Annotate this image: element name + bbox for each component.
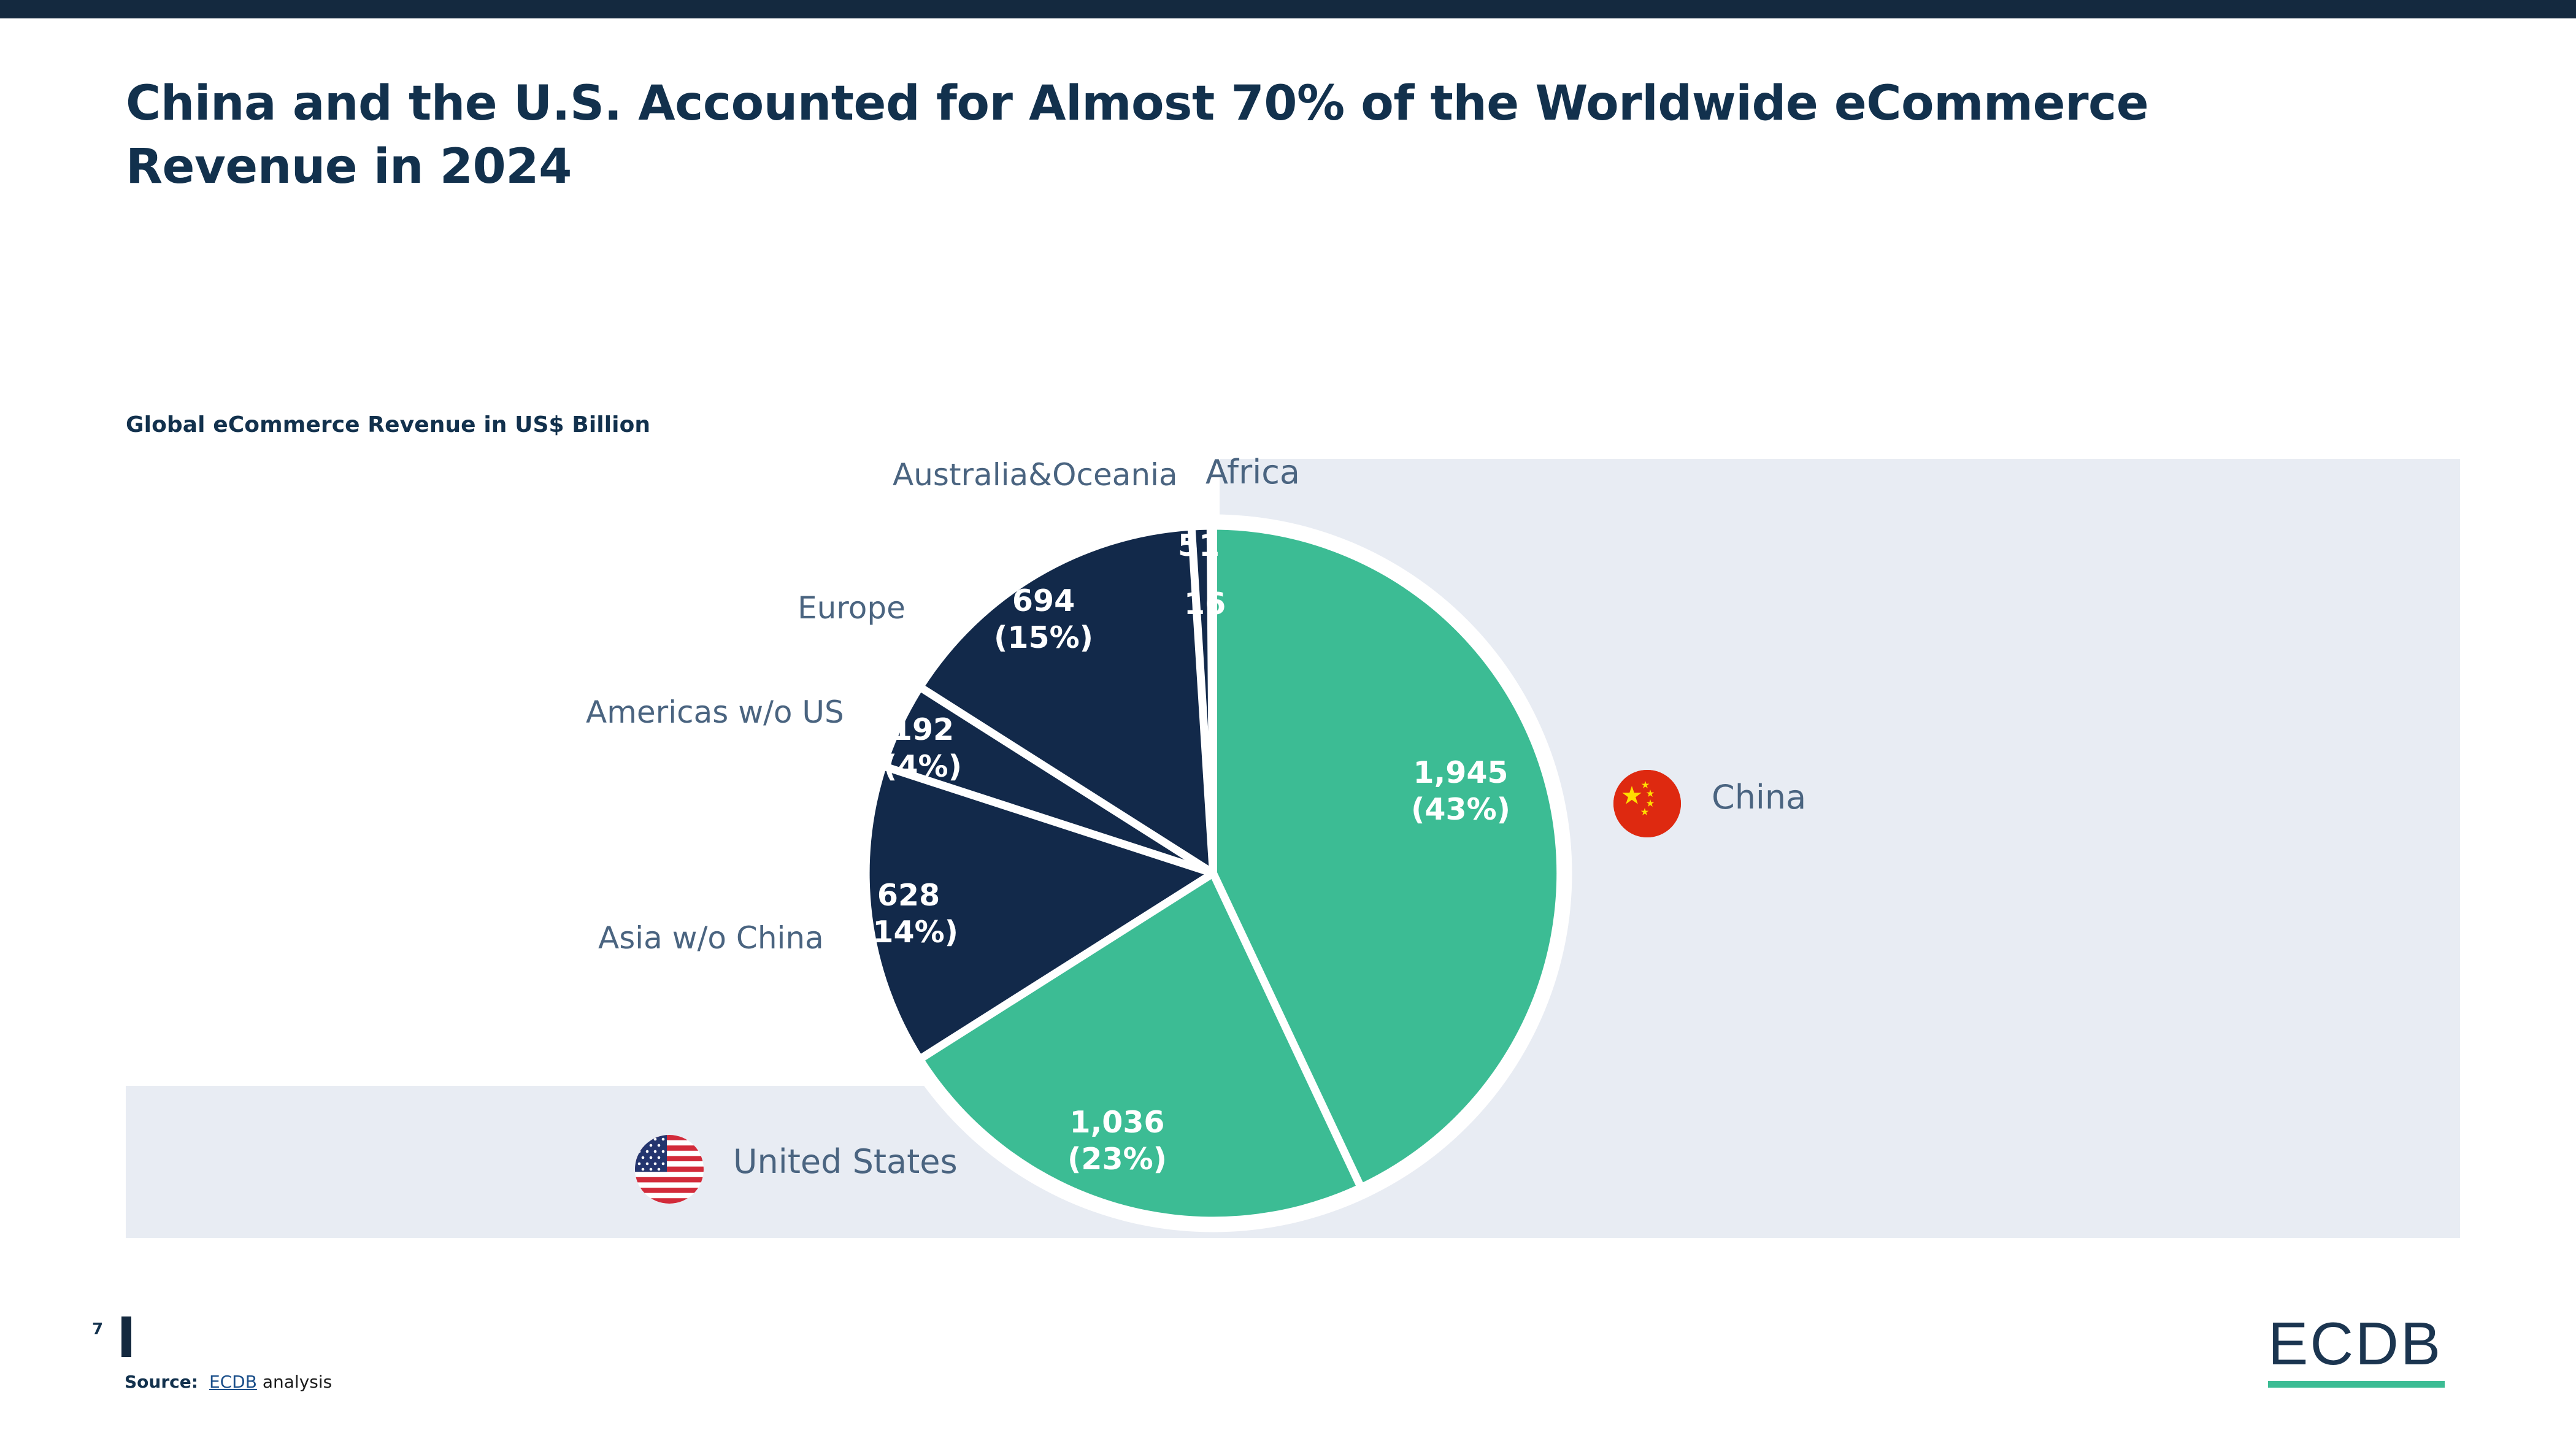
top-accent-bar (0, 0, 2576, 18)
ecdb-logo: ECDB (2268, 1313, 2452, 1388)
us-flag-icon (635, 1135, 704, 1204)
pie-label-asia-wo-china: Asia w/o China (598, 920, 824, 956)
pie-label-australia-oceania: Australia&Oceania (893, 457, 1178, 493)
pie-value-africa: 16 (1184, 586, 1226, 623)
pie-label-americas-wo-us: Americas w/o US (586, 694, 844, 730)
chart-subtitle: Global eCommerce Revenue in US$ Billion (126, 412, 650, 437)
pie-value-australia-oceania: 51 (1178, 528, 1220, 564)
pie-label-china: China (1712, 778, 1806, 817)
source-suffix: analysis (263, 1372, 332, 1392)
pie-value-asia-wo-china: 628 (14%) (859, 877, 958, 951)
page-number: 7 (92, 1320, 103, 1339)
ecdb-logo-text: ECDB (2268, 1313, 2452, 1374)
source-label: Source: (125, 1372, 198, 1392)
page-number-rule (121, 1316, 131, 1357)
pie-label-europe: Europe (798, 590, 905, 626)
pie-value-europe: 694 (15%) (994, 583, 1093, 656)
pie-value-united-states: 1,036 (23%) (1067, 1104, 1167, 1178)
pie-label-africa: Africa (1205, 453, 1300, 491)
cn-flag-icon (1613, 770, 1681, 837)
page-title: China and the U.S. Accounted for Almost … (126, 72, 2273, 199)
source-note: Source:ECDB analysis (125, 1372, 332, 1392)
pie-label-united-states: United States (733, 1142, 958, 1181)
pie-value-americas-wo-us: 192 (4%) (883, 712, 962, 785)
ecdb-logo-underline (2268, 1381, 2445, 1388)
pie-value-china: 1,945 (43%) (1411, 755, 1510, 828)
source-link[interactable]: ECDB (209, 1372, 257, 1392)
